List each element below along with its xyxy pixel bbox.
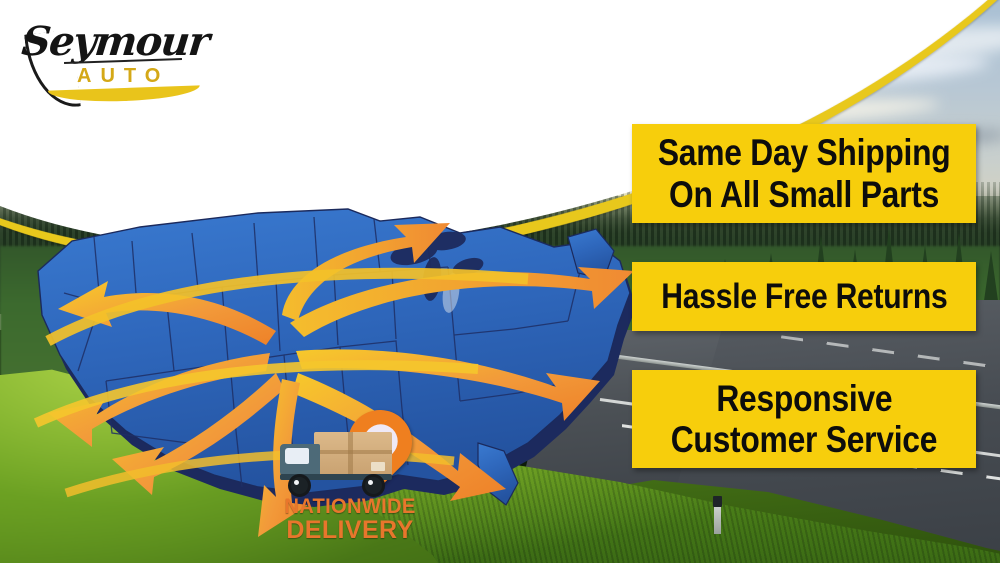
banner-1-line-1: Same Day Shipping (658, 132, 951, 173)
roadside-post-reflector (713, 496, 722, 507)
feature-banner-hassle-free-returns[interactable]: Hassle Free Returns (632, 262, 976, 331)
box-tape-vertical (348, 432, 353, 476)
box-shipping-label (371, 462, 385, 471)
feature-banner-same-day-shipping[interactable]: Same Day Shipping On All Small Parts (632, 124, 976, 223)
logo-brand-name: Seymour (20, 18, 211, 65)
delivery-label-line-2: DELIVERY (270, 518, 430, 544)
banner-2-line-1: Hassle Free Returns (661, 277, 947, 316)
truck-window (285, 448, 309, 464)
delivery-label-line-1: NATIONWIDE (273, 496, 427, 517)
brand-logo[interactable]: Seymour AUTO (22, 16, 212, 104)
nationwide-delivery-label: NATIONWIDE DELIVERY (270, 496, 430, 544)
usa-delivery-map: NATIONWIDE DELIVERY (8, 175, 688, 555)
nationwide-delivery-badge: NATIONWIDE DELIVERY (270, 410, 430, 540)
banner-3-line-2: Customer Service (671, 419, 937, 460)
box-tape-horizontal (314, 450, 392, 454)
banner-1-line-2: On All Small Parts (669, 174, 939, 215)
feature-banner-responsive-customer-service[interactable]: Responsive Customer Service (632, 370, 976, 468)
truck-wheel (362, 474, 385, 497)
delivery-truck-icon (278, 432, 396, 494)
truck-cargo-box (314, 432, 392, 476)
truck-cab (280, 444, 320, 476)
promotional-banner-image: Seymour AUTO (0, 0, 1000, 563)
truck-wheel (288, 474, 311, 497)
banner-3-line-1: Responsive (716, 378, 892, 419)
logo-subtitle: AUTO (77, 65, 169, 88)
